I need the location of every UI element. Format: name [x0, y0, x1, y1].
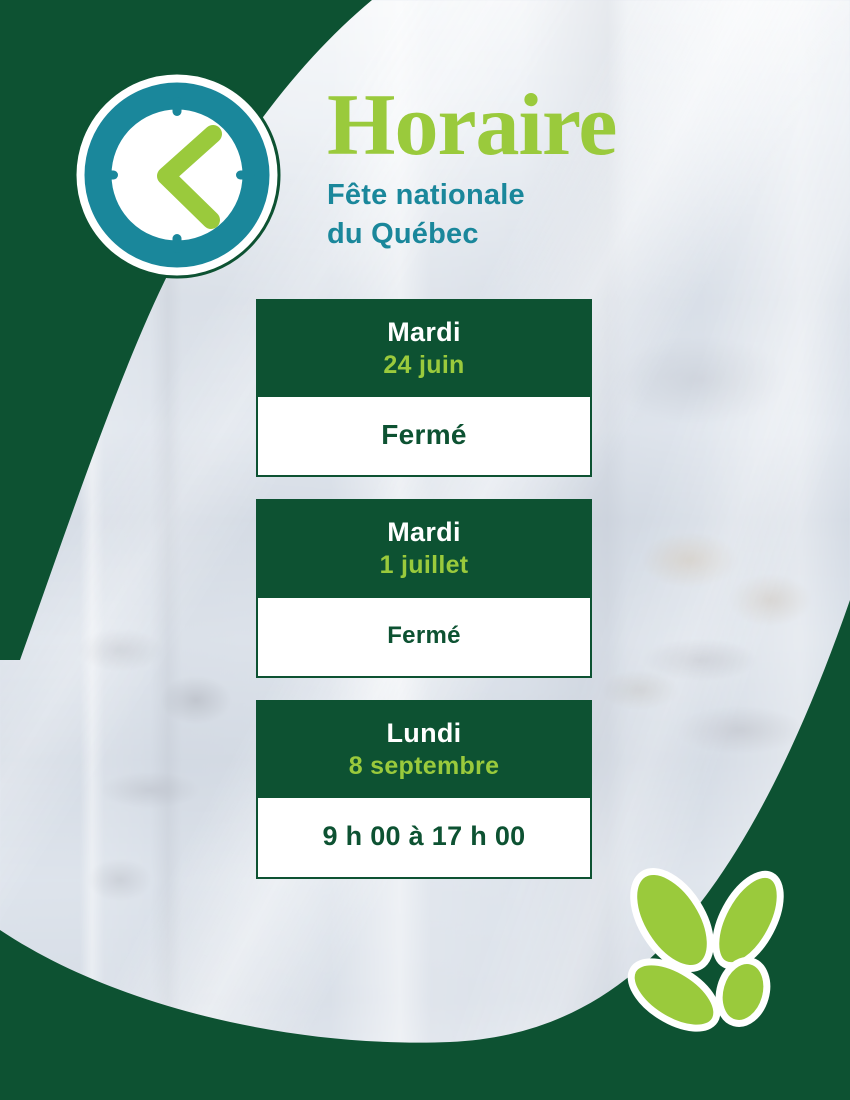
subtitle-line-1: Fête nationale	[327, 176, 747, 215]
page-title: Horaire	[327, 84, 747, 168]
schedule-hours: 9 h 00 à 17 h 00	[256, 798, 592, 879]
schedule-card: Mardi 24 juin Fermé	[256, 299, 592, 477]
schedule-card-header: Mardi 1 juillet	[256, 499, 592, 597]
schedule-card-header: Lundi 8 septembre	[256, 700, 592, 798]
schedule-hours: Fermé	[256, 598, 592, 678]
schedule-card-list: Mardi 24 juin Fermé Mardi 1 juillet Ferm…	[256, 299, 592, 879]
schedule-date: 1 juillet	[266, 550, 582, 581]
schedule-day: Mardi	[266, 317, 582, 348]
schedule-day: Mardi	[266, 517, 582, 548]
schedule-date: 24 juin	[266, 350, 582, 381]
schedule-hours: Fermé	[256, 397, 592, 477]
subtitle-line-2: du Québec	[327, 215, 747, 254]
butterfly-logo-icon	[616, 862, 806, 1052]
schedule-card-header: Mardi 24 juin	[256, 299, 592, 397]
clock-icon	[72, 70, 282, 280]
schedule-day: Lundi	[266, 718, 582, 749]
schedule-card: Mardi 1 juillet Fermé	[256, 499, 592, 677]
poster-header: Horaire Fête nationale du Québec	[327, 84, 747, 254]
poster-subtitle: Fête nationale du Québec	[327, 176, 747, 254]
schedule-date: 8 septembre	[266, 751, 582, 782]
schedule-card: Lundi 8 septembre 9 h 00 à 17 h 00	[256, 700, 592, 879]
schedule-poster: Horaire Fête nationale du Québec Mardi 2…	[0, 0, 850, 1100]
